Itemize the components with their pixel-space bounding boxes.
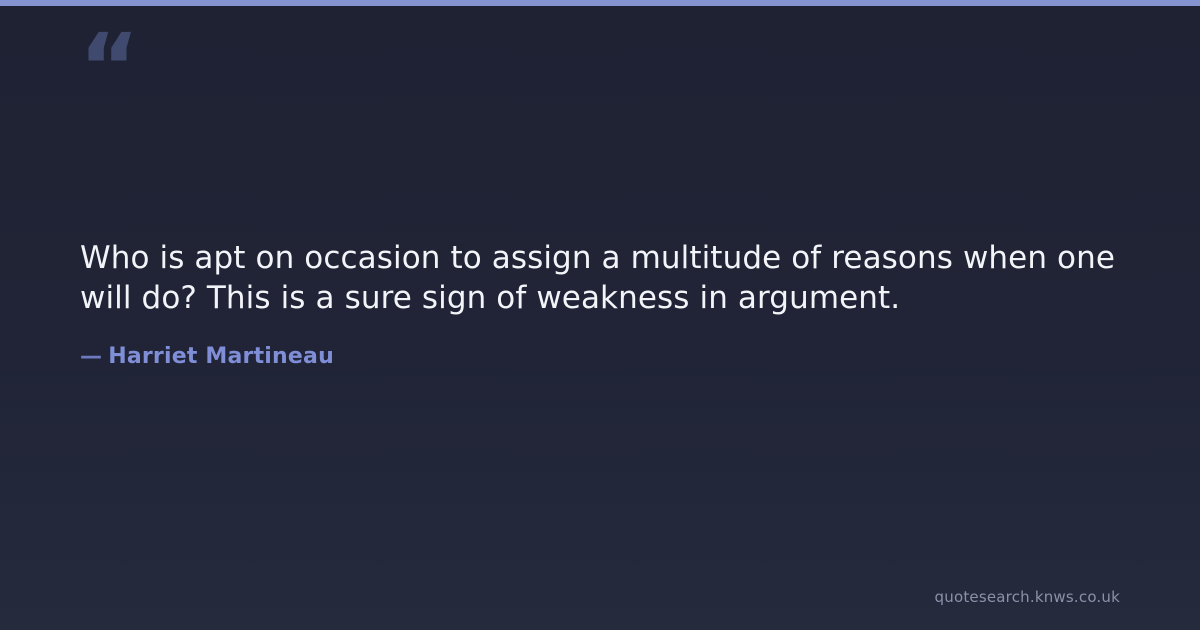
- quote-attribution: —Harriet Martineau: [80, 344, 1120, 369]
- author-name: Harriet Martineau: [108, 344, 334, 369]
- quotation-mark-icon: “: [79, 22, 137, 114]
- quote-text: Who is apt on occasion to assign a multi…: [80, 238, 1120, 318]
- em-dash: —: [80, 344, 108, 369]
- top-accent-bar: [0, 0, 1200, 6]
- quote-card: “ Who is apt on occasion to assign a mul…: [0, 0, 1200, 630]
- quote-content: Who is apt on occasion to assign a multi…: [80, 238, 1120, 369]
- site-watermark: quotesearch.knws.co.uk: [935, 588, 1120, 606]
